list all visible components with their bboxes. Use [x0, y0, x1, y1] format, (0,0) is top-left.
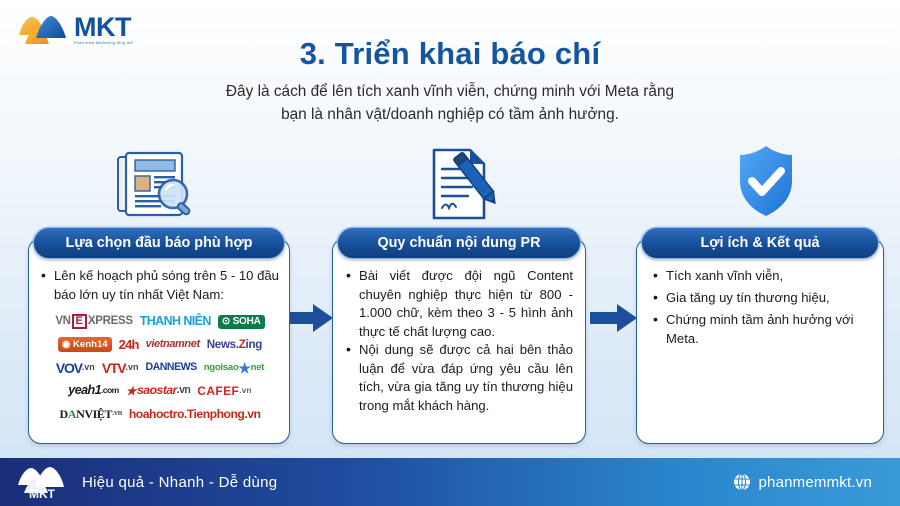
footer-website[interactable]: phanmemmkt.vn — [733, 473, 872, 491]
press-logo-vietnamnet: vietnamnet — [146, 339, 200, 350]
subtitle-line-2: bạn là nhân vật/doanh nghiệp có tầm ảnh … — [0, 104, 900, 127]
document-pen-icon — [412, 145, 508, 223]
mkt-mountain-logo-icon: MKT — [16, 463, 68, 501]
globe-icon — [733, 473, 751, 491]
shield-check-icon — [718, 142, 814, 220]
list-item: Chứng minh tầm ảnh hưởng với Meta. — [653, 311, 873, 348]
press-logo-row: ◉ Kenh14 24h vietnamnet News.Zing — [41, 334, 279, 355]
footer-slogan: Hiệu quả - Nhanh - Dễ dùng — [82, 474, 277, 491]
press-logo-row: VOV.vn VTV.vn DANNEWS ngoisao★net — [41, 357, 279, 378]
press-logo-yeah1: yeah1.com — [68, 384, 118, 397]
press-logo-vtv: VTV.vn — [102, 361, 139, 375]
step-card-pr-standard: Quy chuẩn nội dung PR Bài viết được đội … — [332, 238, 586, 444]
bullet-list: Bài viết được đội ngũ Content chuyên ngh… — [346, 267, 573, 416]
step-card-body: Bài viết được đội ngũ Content chuyên ngh… — [333, 239, 585, 424]
press-logo-24h: 24h — [119, 338, 139, 351]
press-logo-row: yeah1.com ★saostar.vn CAFEF.vn — [41, 380, 279, 401]
right-arrow-icon — [590, 303, 638, 333]
title-block: 3. Triển khai báo chí Đây là cách để lên… — [0, 36, 900, 127]
press-logo-danviet: DANVIỆT.vn — [60, 408, 122, 420]
list-item: Gia tăng uy tín thương hiệu, — [653, 289, 873, 308]
list-item: Bài viết được đội ngũ Content chuyên ngh… — [346, 267, 573, 341]
step-card-benefits: Lợi ích & Kết quả Tích xanh vĩnh viễn, G… — [636, 238, 884, 444]
page-title: 3. Triển khai báo chí — [0, 36, 900, 72]
step-card-header: Quy chuẩn nội dung PR — [337, 227, 581, 259]
press-logo-grid: VNEXPRESS THANH NIÊN ⊙ SOHA ◉ Kenh14 24h… — [41, 311, 279, 424]
bullet-list: Lên kế hoạch phủ sóng trên 5 - 10 đầu bá… — [41, 267, 279, 304]
list-item: Nội dung sẽ được cả hai bên thảo luận để… — [346, 341, 573, 415]
press-logo-soha: ⊙ SOHA — [218, 315, 265, 329]
press-logo-thanhnien: THANH NIÊN — [140, 315, 211, 328]
footer-website-text: phanmemmkt.vn — [759, 474, 872, 491]
press-logo-newszing: News.Zing — [207, 339, 262, 351]
right-arrow-icon — [286, 303, 334, 333]
step-card-header: Lựa chọn đầu báo phù hợp — [33, 227, 285, 259]
press-logo-hoahoctro: hoahoctro.Tienphong.vn — [129, 408, 261, 420]
step-card-body: Lên kế hoạch phủ sóng trên 5 - 10 đầu bá… — [29, 239, 289, 434]
press-logo-row: DANVIỆT.vn hoahoctro.Tienphong.vn — [41, 403, 279, 424]
press-logo-cafef: CAFEF.vn — [197, 385, 251, 397]
step-card-choose-press: Lựa chọn đầu báo phù hợp Lên kế hoạch ph… — [28, 238, 290, 444]
list-item: Lên kế hoạch phủ sóng trên 5 - 10 đầu bá… — [41, 267, 279, 304]
press-logo-dannews: DANNEWS — [145, 362, 196, 373]
bullet-list: Tích xanh vĩnh viễn, Gia tăng uy tín thư… — [653, 267, 873, 348]
press-logo-row: VNEXPRESS THANH NIÊN ⊙ SOHA — [41, 311, 279, 332]
press-logo-vnexpress: VNEXPRESS — [55, 314, 132, 329]
subtitle-line-1: Đây là cách để lên tích xanh vĩnh viễn, … — [0, 81, 900, 104]
list-item: Tích xanh vĩnh viễn, — [653, 267, 873, 286]
newspaper-search-icon — [108, 147, 204, 225]
press-logo-saostar: ★saostar.vn — [126, 384, 191, 396]
press-logo-kenh14: ◉ Kenh14 — [58, 337, 112, 352]
press-logo-ngoisao: ngoisao★net — [204, 361, 264, 375]
svg-text:MKT: MKT — [29, 487, 56, 501]
page-subtitle: Đây là cách để lên tích xanh vĩnh viễn, … — [0, 81, 900, 127]
press-logo-vov: VOV.vn — [56, 361, 95, 375]
footer-bar: MKT Hiệu quả - Nhanh - Dễ dùng phanmemmk… — [0, 458, 900, 506]
step-card-header: Lợi ích & Kết quả — [641, 227, 879, 259]
